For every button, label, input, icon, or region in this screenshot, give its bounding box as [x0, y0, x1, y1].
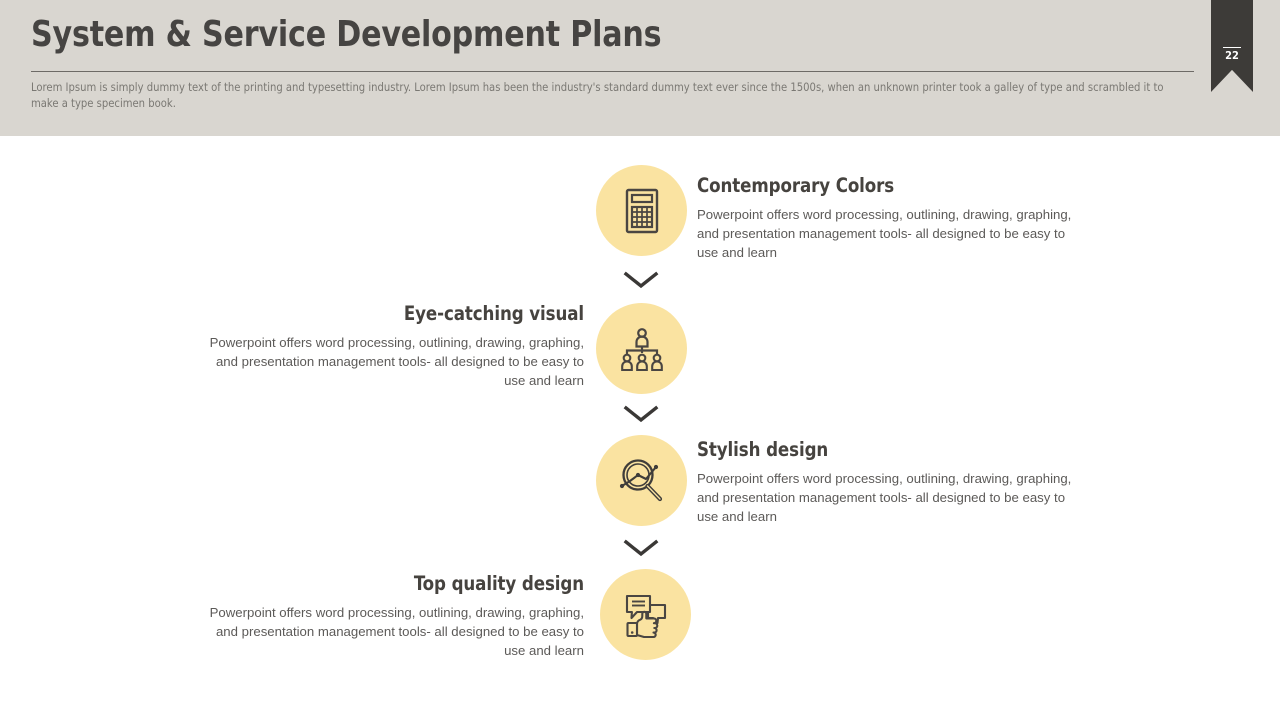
magnifier-chart-icon	[614, 453, 670, 509]
chevron-down-icon-2	[621, 403, 661, 425]
page-number-value: 22	[1223, 47, 1241, 62]
step-icon-circle-3[interactable]	[596, 435, 687, 526]
page-subtitle: Lorem Ipsum is simply dummy text of the …	[31, 79, 1166, 111]
step-title-3: Stylish design	[697, 438, 1069, 461]
step-text-1: Contemporary Colors Powerpoint offers wo…	[697, 174, 1089, 262]
page-number: 22	[1211, 46, 1253, 62]
step-icon-circle-4[interactable]	[600, 569, 691, 660]
process-flow: Contemporary Colors Powerpoint offers wo…	[0, 136, 1280, 720]
step-icon-circle-1[interactable]	[596, 165, 687, 256]
step-description-1: Powerpoint offers word processing, outli…	[697, 205, 1089, 262]
step-title-1: Contemporary Colors	[697, 174, 1069, 197]
chevron-down-icon-1	[621, 269, 661, 291]
step-description-2: Powerpoint offers word processing, outli…	[192, 333, 584, 390]
org-chart-icon	[616, 323, 668, 375]
page-title: System & Service Development Plans	[31, 14, 661, 55]
step-text-2: Eye-catching visual Powerpoint offers wo…	[192, 302, 584, 390]
step-description-3: Powerpoint offers word processing, outli…	[697, 469, 1089, 526]
step-title-2: Eye-catching visual	[212, 302, 584, 325]
chevron-down-icon-3	[621, 537, 661, 559]
title-divider	[31, 71, 1194, 72]
page-number-ribbon: 22	[1211, 0, 1253, 92]
step-title-4: Top quality design	[212, 572, 584, 595]
step-text-3: Stylish design Powerpoint offers word pr…	[697, 438, 1089, 526]
calculator-icon	[616, 185, 668, 237]
step-description-4: Powerpoint offers word processing, outli…	[192, 603, 584, 660]
step-text-4: Top quality design Powerpoint offers wor…	[192, 572, 584, 660]
thumbs-up-chat-icon	[619, 588, 673, 642]
step-icon-circle-2[interactable]	[596, 303, 687, 394]
